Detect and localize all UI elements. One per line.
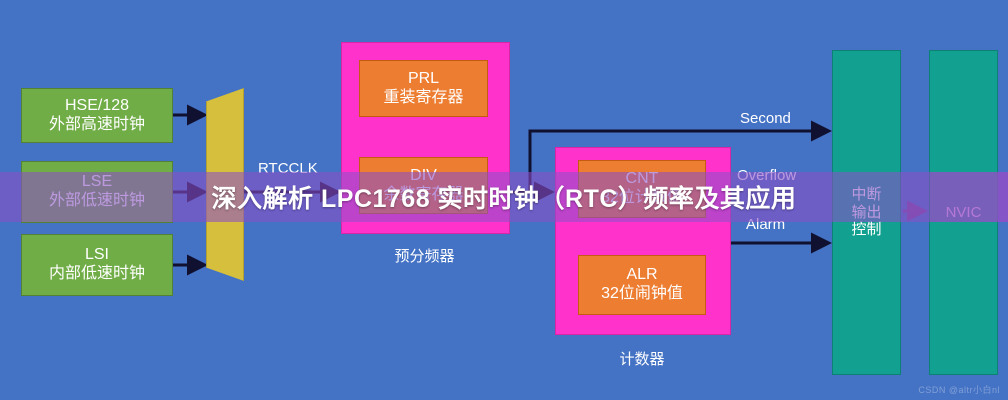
alr-subtitle: 32位闹钟值: [601, 285, 683, 304]
counter-caption: 计数器: [555, 348, 729, 369]
page-title: 深入解析 LPC1768 实时时钟（RTC）频率及其应用: [0, 172, 1008, 222]
prl-subtitle: 重装寄存器: [383, 89, 463, 108]
prl-title: PRL: [408, 70, 439, 89]
register-prl[interactable]: PRL 重装寄存器: [359, 60, 488, 117]
interrupt-line-3: 控制: [851, 221, 881, 239]
hse-subtitle: 外部高速时钟: [49, 116, 145, 135]
register-alr[interactable]: ALR 32位闹钟值: [578, 255, 706, 315]
clock-source-lsi[interactable]: LSI 内部低速时钟: [21, 234, 173, 296]
lsi-subtitle: 内部低速时钟: [49, 265, 145, 284]
hse-title: HSE/128: [65, 97, 129, 116]
watermark: CSDN @altr小白nl: [918, 383, 1000, 396]
prescaler-caption: 预分频器: [341, 245, 508, 266]
clock-source-hse[interactable]: HSE/128 外部高速时钟: [21, 88, 173, 143]
lsi-title: LSI: [85, 246, 109, 265]
diagram-canvas: HSE/128 外部高速时钟 LSE 外部低速时钟 LSI 内部低速时钟 RTC…: [0, 0, 1008, 400]
alr-title: ALR: [626, 266, 657, 285]
signal-label-second: Second: [740, 110, 791, 127]
